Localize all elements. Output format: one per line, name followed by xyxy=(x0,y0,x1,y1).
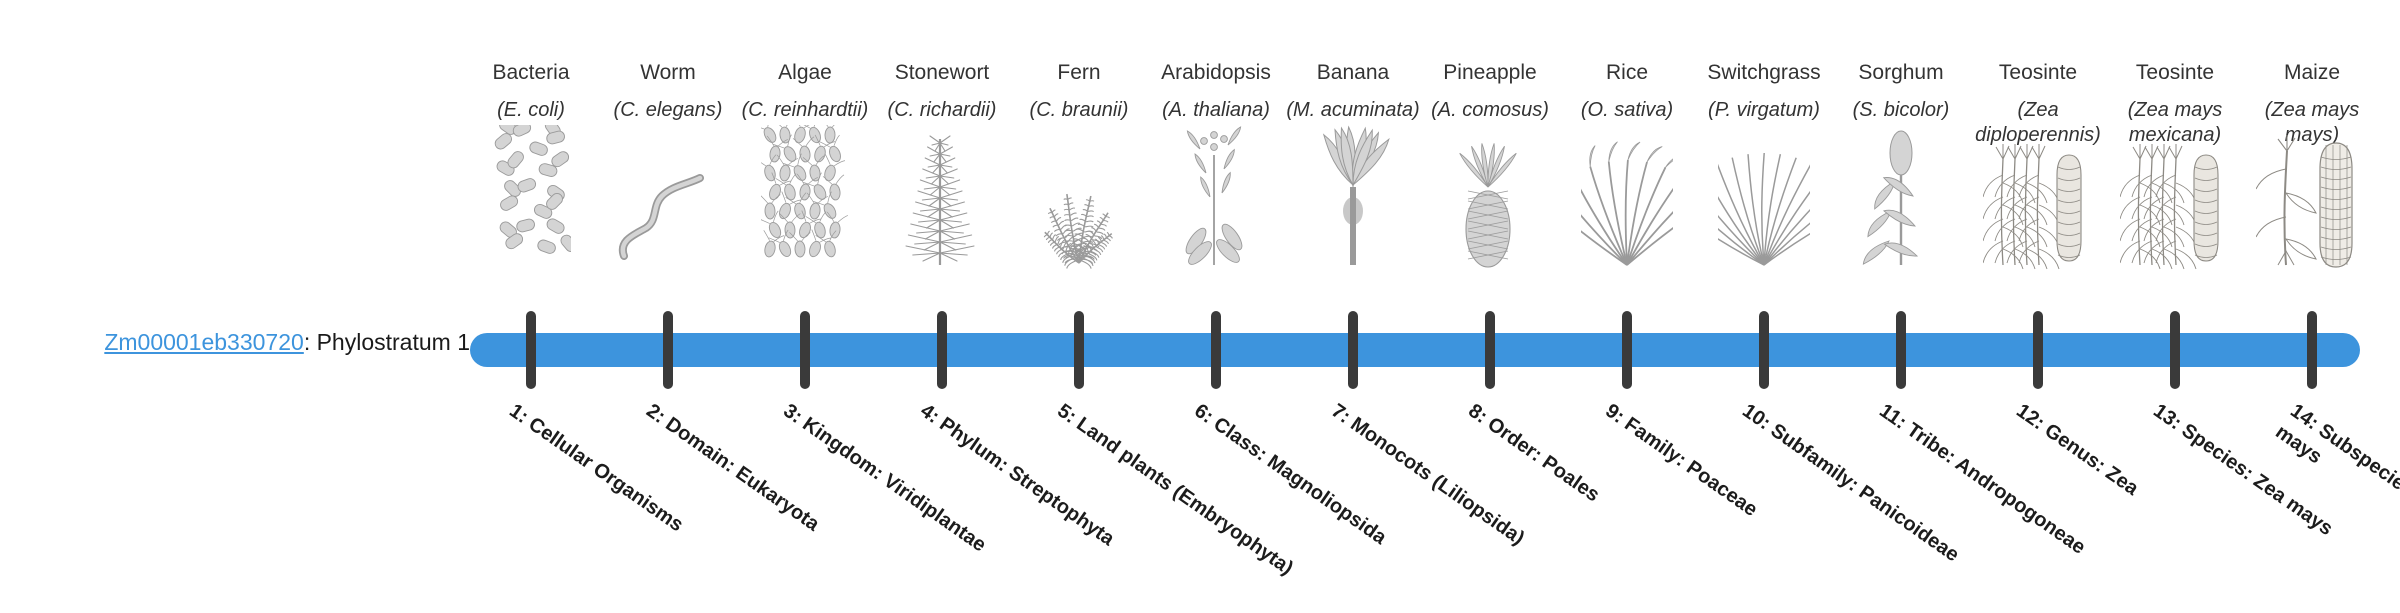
taxonomy-rank: Subfamily: xyxy=(1766,419,1862,496)
rice-icon xyxy=(1559,170,1695,270)
species-latin-name: (C. reinhardtii) xyxy=(737,98,873,123)
taxonomy-label-12: 12: Genus: Zea xyxy=(2011,398,2272,591)
tick-mark-3[interactable] xyxy=(800,311,810,389)
algae-icon xyxy=(737,170,873,270)
tick-mark-10[interactable] xyxy=(1759,311,1769,389)
banana-icon xyxy=(1285,170,1421,270)
taxonomy-name: Poaceae xyxy=(1682,456,1761,521)
species-common-name: Sorghum xyxy=(1833,60,1969,86)
gene-label-separator: : xyxy=(304,329,317,355)
taxonomy-name: (Embryophyta) xyxy=(1169,481,1297,580)
taxonomy-rank: Land plants xyxy=(1072,413,1177,495)
species-latin-name: (E. coli) xyxy=(463,98,599,123)
pineapple-icon xyxy=(1422,170,1558,270)
species-header-9: Rice (O. sativa) xyxy=(1559,60,1695,123)
species-latin-name: (O. sativa) xyxy=(1559,98,1695,123)
taxonomy-label-2: 2: Domain: Eukaryota xyxy=(641,398,902,591)
tick-mark-11[interactable] xyxy=(1896,311,1906,389)
species-common-name: Algae xyxy=(737,60,873,86)
taxonomy-name: Andropogoneae xyxy=(1951,453,2089,559)
tick-mark-5[interactable] xyxy=(1074,311,1084,389)
taxonomy-rank: Cellular xyxy=(524,413,597,473)
species-common-name: Stonewort xyxy=(874,60,1010,86)
tick-mark-9[interactable] xyxy=(1622,311,1632,389)
taxonomy-rank: Species: xyxy=(2177,419,2257,484)
tick-mark-2[interactable] xyxy=(663,311,673,389)
species-common-name: Rice xyxy=(1559,60,1695,86)
taxonomy-name: Eukaryota xyxy=(731,462,823,535)
taxonomy-rank: Tribe: xyxy=(1903,419,1960,468)
taxonomy-label-9: 9: Family: Poaceae xyxy=(1600,398,1861,591)
phylostratum-value: Phylostratum 1 xyxy=(317,329,470,355)
species-header-2: Worm (C. elegans) xyxy=(600,60,736,123)
tick-mark-1[interactable] xyxy=(526,311,536,389)
sorghum-icon xyxy=(1833,170,1969,270)
tick-mark-4[interactable] xyxy=(937,311,947,389)
taxonomy-number: 13: xyxy=(2149,400,2185,435)
taxonomy-label-8: 8: Order: Poales xyxy=(1463,398,1724,591)
worm-icon xyxy=(600,170,736,270)
taxonomy-name: (Liliopsida) xyxy=(1428,470,1528,549)
fern-icon xyxy=(1011,170,1147,270)
species-header-8: Pineapple (A. comosus) xyxy=(1422,60,1558,123)
taxonomy-name: Poales xyxy=(1538,451,1603,506)
teosinte-icon xyxy=(2107,170,2243,270)
taxonomy-rank: Subspecies: xyxy=(2314,419,2400,505)
species-latin-name: (P. virgatum) xyxy=(1696,98,1832,123)
species-header-6: Arabidopsis (A. thaliana) xyxy=(1148,60,1284,123)
arabidopsis-icon xyxy=(1148,170,1284,270)
species-latin-name: (A. thaliana) xyxy=(1148,98,1284,123)
taxonomy-number: 11: xyxy=(1875,400,1910,434)
tick-mark-13[interactable] xyxy=(2170,311,2180,389)
taxonomy-label-4: 4: Phylum: Streptophyta xyxy=(915,398,1176,591)
species-header-7: Banana (M. acuminata) xyxy=(1285,60,1421,123)
species-latin-name: (S. bicolor) xyxy=(1833,98,1969,123)
species-common-name: Pineapple xyxy=(1422,60,1558,86)
species-common-name: Worm xyxy=(600,60,736,86)
taxonomy-rank: Domain: xyxy=(661,413,739,477)
species-header-3: Algae (C. reinhardtii) xyxy=(737,60,873,123)
tick-mark-7[interactable] xyxy=(1348,311,1358,389)
bacteria-icon xyxy=(463,170,599,270)
taxonomy-label-10: 10: Subfamily: Panicoideae xyxy=(1737,398,1998,591)
taxonomy-name: Magnoliopsida xyxy=(1263,451,1390,549)
species-header-5: Fern (C. braunii) xyxy=(1011,60,1147,123)
taxonomy-rank: Genus: xyxy=(2040,419,2109,477)
stonewort-icon xyxy=(874,170,1010,270)
tick-mark-6[interactable] xyxy=(1211,311,1221,389)
taxonomy-name: Organisms xyxy=(589,458,687,536)
species-header-11: Sorghum (S. bicolor) xyxy=(1833,60,1969,123)
phylostratigraphy-figure: Zm00001eb330720: Phylostratum 1 Bacteria… xyxy=(0,0,2400,580)
species-common-name: Teosinte xyxy=(2107,60,2243,86)
taxonomy-name: Streptophyta xyxy=(1005,461,1119,550)
tick-mark-14[interactable] xyxy=(2307,311,2317,389)
taxonomy-label-11: 11: Tribe: Andropogoneae xyxy=(1874,398,2135,591)
species-common-name: Bacteria xyxy=(463,60,599,86)
species-latin-name: (C. richardii) xyxy=(874,98,1010,123)
taxonomy-name: Panicoideae xyxy=(1855,481,1963,566)
taxonomy-name: Zea mays xyxy=(2249,470,2336,540)
species-latin-name: (C. elegans) xyxy=(600,98,736,123)
taxonomy-label-6: 6: Class: Magnoliopsida xyxy=(1189,398,1450,591)
tick-mark-12[interactable] xyxy=(2033,311,2043,389)
taxonomy-label-5: 5: Land plants (Embryophyta) xyxy=(1052,398,1313,591)
taxonomy-rank: Order: xyxy=(1483,413,1546,466)
species-common-name: Fern xyxy=(1011,60,1147,86)
taxonomy-rank: Phylum: xyxy=(935,413,1012,476)
gene-id-link[interactable]: Zm00001eb330720 xyxy=(104,329,304,355)
taxonomy-rank: Class: xyxy=(1209,413,1271,465)
species-common-name: Banana xyxy=(1285,60,1421,86)
species-common-name: Switchgrass xyxy=(1696,60,1832,86)
taxonomy-rank: Kingdom: xyxy=(798,413,887,485)
switchgrass-icon xyxy=(1696,170,1832,270)
species-latin-name: (M. acuminata) xyxy=(1285,98,1421,123)
taxonomy-name: Viridiplantae xyxy=(879,470,990,557)
taxonomy-label-3: 3: Kingdom: Viridiplantae xyxy=(778,398,1039,591)
taxonomy-number: 10: xyxy=(1738,400,1774,435)
taxonomy-rank: Family: xyxy=(1620,413,1690,471)
maize-icon xyxy=(2244,170,2380,270)
taxonomy-label-1: 1: Cellular Organisms xyxy=(504,398,765,591)
species-latin-name: (A. comosus) xyxy=(1422,98,1558,123)
species-latin-name: (C. braunii) xyxy=(1011,98,1147,123)
species-common-name: Maize xyxy=(2244,60,2380,86)
species-header-4: Stonewort (C. richardii) xyxy=(874,60,1010,123)
taxonomy-number: 12: xyxy=(2012,400,2048,435)
species-header-10: Switchgrass (P. virgatum) xyxy=(1696,60,1832,123)
gene-phylostratum-label: Zm00001eb330720: Phylostratum 1 xyxy=(0,328,470,356)
taxonomy-name: Zea xyxy=(2101,462,2142,500)
taxonomy-rank: Monocots xyxy=(1346,413,1436,485)
taxonomy-label-7: 7: Monocots (Liliopsida) xyxy=(1326,398,1587,591)
species-header-1: Bacteria (E. coli) xyxy=(463,60,599,123)
phylostratum-bar[interactable] xyxy=(470,333,2360,367)
species-common-name: Teosinte xyxy=(1970,60,2106,86)
tick-mark-8[interactable] xyxy=(1485,311,1495,389)
species-common-name: Arabidopsis xyxy=(1148,60,1284,86)
teosinte-icon xyxy=(1970,170,2106,270)
